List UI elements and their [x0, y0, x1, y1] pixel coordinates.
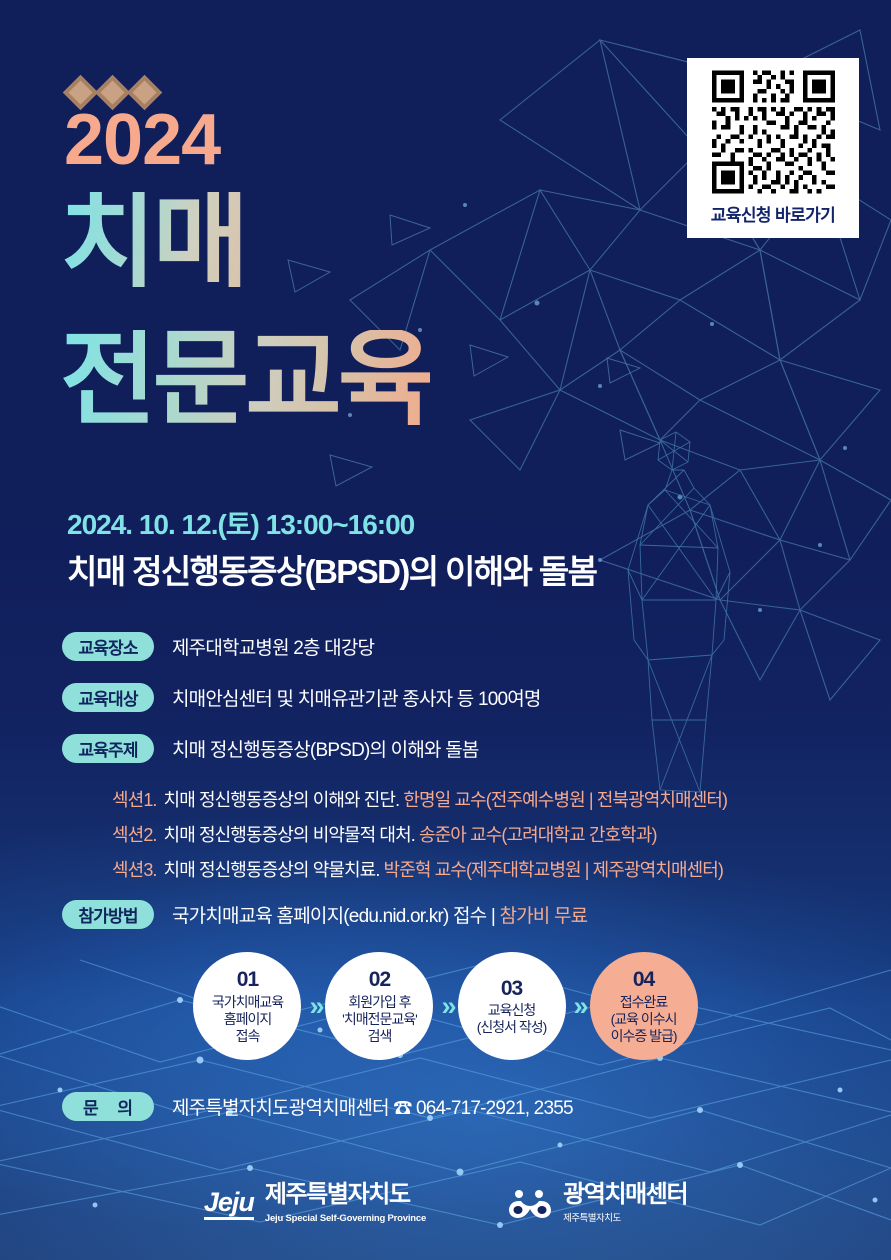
session-item: 섹션3.치매 정신행동증상의 약물치료. 박준혁 교수(제주대학교병원 | 제주…: [112, 856, 727, 882]
step-number: 04: [633, 967, 654, 993]
jeju-wordmark: Jeju: [204, 1189, 254, 1220]
footer-logos: Jeju 제주특별자치도 Jeju Special Self-Governing…: [0, 1182, 891, 1226]
step-number: 03: [501, 976, 522, 1002]
qr-code-icon[interactable]: [696, 66, 851, 198]
jeju-logo-sub: Jeju Special Self-Governing Province: [265, 1213, 426, 1224]
step-flow: 01 국가치매교육 홈페이지 접속 » 02 회원가입 후 '치매전문교육' 검…: [0, 952, 891, 1060]
step-circle-03: 03 교육신청 (신청서 작성): [458, 952, 566, 1060]
join-method-highlight: 참가비 무료: [499, 906, 587, 927]
jeju-logo-text: 제주특별자치도 Jeju Special Self-Governing Prov…: [265, 1182, 426, 1226]
chevron-right-icon: »: [438, 991, 452, 1022]
event-subtitle: 치매 정신행동증상(BPSD)의 이해와 돌봄: [67, 545, 596, 593]
session-topic: 치매 정신행동증상의 비약물적 대처.: [164, 825, 415, 845]
join-method-text: 국가치매교육 홈페이지(edu.nid.or.kr) 접수 |: [172, 906, 499, 927]
step-caption-line: 홈페이지: [224, 1011, 272, 1028]
step-number: 02: [369, 967, 390, 993]
session-topic: 치매 정신행동증상의 이해와 진단.: [164, 790, 400, 810]
title-line-1: 치매: [60, 192, 245, 292]
qr-registration-block[interactable]: 교육신청 바로가기: [687, 58, 859, 238]
session-number: 섹션2.: [112, 825, 157, 845]
session-number: 섹션1.: [112, 790, 157, 810]
contact-row: 문 의 제주특별자치도광역치매센터 ☎ 064-717-2921, 2355: [62, 1092, 573, 1121]
info-row: 교육대상 치매안심센터 및 치매유관기관 종사자 등 100여명: [62, 683, 862, 712]
step-circle-02: 02 회원가입 후 '치매전문교육' 검색: [325, 952, 433, 1060]
qr-caption: 교육신청 바로가기: [711, 201, 835, 226]
info-row-list: 교육장소 제주대학교병원 2층 대강당 교육대상 치매안심센터 및 치매유관기관…: [62, 632, 862, 785]
session-number: 섹션3.: [112, 860, 157, 880]
step-caption-line: (신청서 작성): [477, 1019, 547, 1036]
info-row-value: 치매 정신행동증상(BPSD)의 이해와 돌봄: [172, 735, 479, 762]
info-row-value: 치매안심센터 및 치매유관기관 종사자 등 100여명: [172, 684, 541, 711]
chevron-right-icon: »: [306, 991, 320, 1022]
jeju-logo-main: 제주특별자치도: [265, 1181, 410, 1208]
join-method-row: 참가방법 국가치매교육 홈페이지(edu.nid.or.kr) 접수 | 참가비…: [62, 900, 587, 929]
info-row-badge: 교육장소: [62, 632, 154, 661]
dementia-logo-text: 광역치매센터 제주특별자치도: [563, 1182, 687, 1226]
step-circle-01: 01 국가치매교육 홈페이지 접속: [193, 952, 301, 1060]
step-caption-line: 접수완료: [620, 994, 668, 1011]
step-caption-line: 이수증 발급): [611, 1028, 677, 1045]
info-row: 교육장소 제주대학교병원 2층 대강당: [62, 632, 862, 661]
step-circle-04: 04 접수완료 (교육 이수시 이수증 발급): [590, 952, 698, 1060]
step-caption-line: 검색: [368, 1028, 392, 1045]
session-item: 섹션1.치매 정신행동증상의 이해와 진단. 한명일 교수(전주예수병원 | 전…: [112, 786, 727, 812]
step-caption-line: '치매전문교육': [342, 1011, 417, 1028]
year-heading: 2024: [64, 104, 220, 176]
info-row-badge: 교육주제: [62, 734, 154, 763]
join-method-badge: 참가방법: [62, 900, 154, 929]
session-speaker: 박준혁 교수(제주대학교병원 | 제주광역치매센터): [384, 860, 723, 880]
title-line-2: 전문교육: [60, 330, 430, 430]
info-row-value: 제주대학교병원 2층 대강당: [172, 633, 374, 660]
infinity-people-icon: [508, 1189, 552, 1219]
step-caption-line: 회원가입 후: [348, 994, 410, 1011]
jeju-province-logo: Jeju 제주특별자치도 Jeju Special Self-Governing…: [204, 1182, 426, 1226]
dementia-logo-main: 광역치매센터: [563, 1181, 687, 1208]
join-method-value: 국가치매교육 홈페이지(edu.nid.or.kr) 접수 | 참가비 무료: [172, 901, 587, 928]
session-item: 섹션2.치매 정신행동증상의 비약물적 대처. 송준아 교수(고려대학교 간호학…: [112, 821, 727, 847]
step-number: 01: [237, 967, 258, 993]
session-topic: 치매 정신행동증상의 약물치료.: [164, 860, 380, 880]
session-list: 섹션1.치매 정신행동증상의 이해와 진단. 한명일 교수(전주예수병원 | 전…: [112, 786, 727, 891]
step-caption-line: (교육 이수시: [611, 1011, 677, 1028]
contact-value: 제주특별자치도광역치매센터 ☎ 064-717-2921, 2355: [172, 1093, 573, 1120]
poster-root: 2024 치매 전문교육: [0, 0, 891, 1260]
session-speaker: 송준아 교수(고려대학교 간호학과): [419, 825, 657, 845]
info-row-badge: 교육대상: [62, 683, 154, 712]
step-caption-line: 국가치매교육: [212, 994, 283, 1011]
dementia-logo-sub: 제주특별자치도: [563, 1213, 621, 1224]
contact-badge: 문 의: [62, 1092, 154, 1121]
step-caption-line: 교육신청: [488, 1002, 536, 1019]
event-date: 2024. 10. 12.(토) 13:00~16:00: [67, 503, 414, 543]
session-speaker: 한명일 교수(전주예수병원 | 전북광역치매센터): [403, 790, 727, 810]
info-row: 교육주제 치매 정신행동증상(BPSD)의 이해와 돌봄: [62, 734, 862, 763]
chevron-right-icon: »: [571, 991, 585, 1022]
dementia-center-logo: 광역치매센터 제주특별자치도: [508, 1182, 687, 1226]
step-caption-line: 접속: [236, 1028, 260, 1045]
